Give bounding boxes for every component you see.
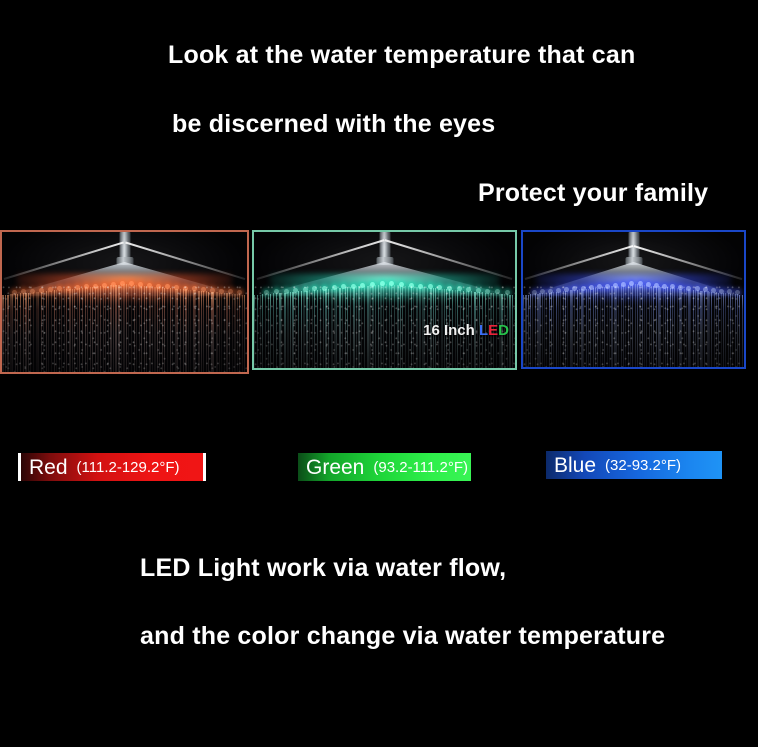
legend-range-green: (93.2-111.2°F) xyxy=(373,460,468,475)
water-stream-curtain-blue xyxy=(523,284,744,367)
photo-backdrop-blue xyxy=(523,232,744,367)
footer-line-1: LED Light work via water flow, xyxy=(140,554,506,583)
shower-head-photo-green: 16 Inch LED xyxy=(252,230,517,370)
watermark-letter-e: E xyxy=(488,322,498,339)
shower-head-photo-red xyxy=(0,230,249,374)
legend-label-blue: Blue xyxy=(554,455,596,476)
headline-line-1: Look at the water temperature that can xyxy=(168,41,635,70)
shower-head-photo-blue xyxy=(521,230,746,369)
legend-bar-red: Red (111.2-129.2°F) xyxy=(18,453,206,481)
photo-backdrop-red xyxy=(2,232,247,372)
legend-range-blue: (32-93.2°F) xyxy=(605,458,681,473)
legend-bar-green: Green (93.2-111.2°F) xyxy=(298,453,471,481)
legend-range-red: (111.2-129.2°F) xyxy=(77,460,180,475)
headline-line-3: Protect your family xyxy=(478,179,708,208)
watermark-letter-l: L xyxy=(479,322,488,339)
headline-line-2: be discerned with the eyes xyxy=(172,110,495,139)
watermark-size-text: 16 Inch xyxy=(423,322,479,339)
photo-backdrop-green: 16 Inch LED xyxy=(254,232,515,368)
legend-label-green: Green xyxy=(306,457,364,478)
legend-label-red: Red xyxy=(29,457,68,478)
footer-line-2: and the color change via water temperatu… xyxy=(140,622,665,651)
shower-arm-pipe-icon xyxy=(119,232,130,260)
watermark-letter-d: D xyxy=(498,322,509,339)
legend-bar-blue: Blue (32-93.2°F) xyxy=(546,451,722,479)
water-stream-curtain-red xyxy=(2,284,247,372)
shower-arm-pipe-icon xyxy=(379,232,390,260)
product-size-watermark: 16 Inch LED xyxy=(423,322,509,339)
